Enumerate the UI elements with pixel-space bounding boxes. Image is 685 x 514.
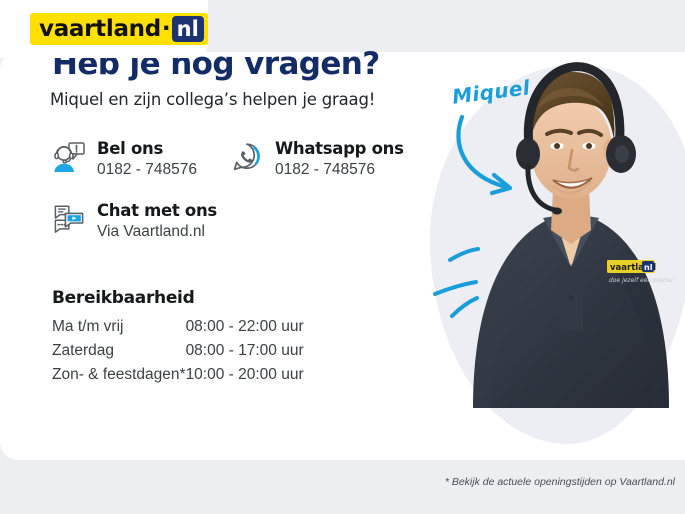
motion-marks-icon [432, 238, 512, 323]
whatsapp-icon [230, 140, 264, 174]
chat-bubbles-icon [52, 202, 86, 236]
table-row: Ma t/m vrij 08:00 - 22:00 uur [52, 315, 304, 339]
curved-arrow-icon [448, 105, 544, 215]
svg-text:doe jezelf een plezier: doe jezelf een plezier [609, 277, 674, 284]
contact-chat-title: Chat met ons [97, 200, 217, 221]
contact-whatsapp-text: Whatsapp ons 0182 - 748576 [275, 138, 404, 181]
hours-time: 08:00 - 17:00 uur [186, 339, 304, 363]
contact-item-call[interactable]: Bel ons 0182 - 748576 [52, 138, 197, 181]
svg-text:nl: nl [644, 263, 653, 272]
contact-item-whatsapp[interactable]: Whatsapp ons 0182 - 748576 [230, 138, 404, 181]
contact-whatsapp-title: Whatsapp ons [275, 138, 404, 159]
logo-wordmark: vaartland [39, 13, 161, 45]
hours-time: 08:00 - 22:00 uur [186, 315, 304, 339]
hours-time: 10:00 - 20:00 uur [186, 363, 304, 387]
logo-tld-badge: nl [172, 16, 204, 42]
opening-hours-table: Ma t/m vrij 08:00 - 22:00 uur Zaterdag 0… [52, 315, 304, 387]
hours-day: Ma t/m vrij [52, 315, 186, 339]
table-row: Zon- & feestdagen* 10:00 - 20:00 uur [52, 363, 304, 387]
promo-banner: vaartland · nl Heb je nog vragen? Miquel… [0, 0, 685, 514]
footnote-text: * Bekijk de actuele openingstijden op Va… [0, 475, 675, 489]
logo-panel: vaartland · nl [0, 0, 208, 58]
hours-day: Zon- & feestdagen* [52, 363, 186, 387]
logo-separator-dot: · [161, 13, 172, 45]
contact-call-text: Bel ons 0182 - 748576 [97, 138, 197, 181]
contact-item-chat[interactable]: Chat met ons Via Vaartland.nl [52, 200, 217, 243]
contact-chat-value: Via Vaartland.nl [97, 221, 217, 243]
page-subtitle: Miquel en zijn collega’s helpen je graag… [50, 90, 375, 110]
contact-call-value: 0182 - 748576 [97, 159, 197, 181]
hours-day: Zaterdag [52, 339, 186, 363]
contact-whatsapp-value: 0182 - 748576 [275, 159, 404, 181]
contact-call-title: Bel ons [97, 138, 197, 159]
contact-chat-text: Chat met ons Via Vaartland.nl [97, 200, 217, 243]
table-row: Zaterdag 08:00 - 17:00 uur [52, 339, 304, 363]
vaartland-logo[interactable]: vaartland · nl [30, 13, 208, 45]
hours-heading: Bereikbaarheid [52, 287, 194, 309]
headset-person-icon [52, 140, 86, 174]
